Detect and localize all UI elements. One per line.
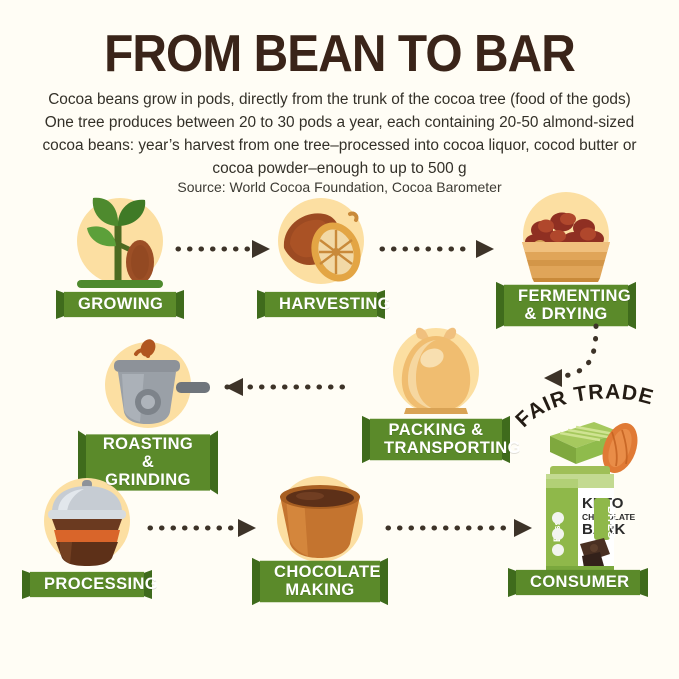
step-fermenting[interactable]: FERMENTING & DRYING [496, 186, 636, 331]
step-label: CONSUMER [508, 573, 648, 591]
step-label-line2: MAKING [252, 581, 388, 599]
connector-harvesting-to-fermenting [380, 239, 496, 259]
step-banner: CHOCOLATE MAKING [252, 556, 388, 607]
step-packing[interactable]: PACKING & TRANSPORTING [362, 322, 510, 465]
step-label-line1: ROASTING & [78, 435, 218, 471]
step-processing[interactable]: PROCESSING [22, 472, 152, 601]
step-label-line2: GRINDING [78, 471, 218, 489]
package-badges [552, 512, 564, 556]
product-package-icon: Bliss KETO CHOCOLATE BARK BITES [508, 462, 648, 574]
step-label-line1: CHOCOLATE [252, 563, 388, 581]
step-harvesting[interactable]: HARVESTING [257, 192, 385, 321]
connector-processing-to-chocolate [148, 518, 258, 538]
step-banner: PROCESSING [22, 568, 152, 601]
step-roasting[interactable]: ROASTING & GRINDING [78, 336, 218, 497]
page-title: FROM BEAN TO BAR [27, 28, 652, 80]
cocoa-plant-icon [61, 192, 179, 288]
step-banner: ROASTING & GRINDING [78, 428, 218, 497]
connector-packing-to-roasting [203, 377, 355, 397]
step-label-line2: & DRYING [496, 305, 636, 323]
step-banner: HARVESTING [257, 288, 385, 321]
subtitle-text: Cocoa beans grow in pods, directly from … [33, 88, 646, 180]
step-label: HARVESTING [257, 295, 385, 313]
step-label: PROCESSING [22, 575, 152, 593]
step-label-line1: FERMENTING [496, 287, 636, 305]
step-label-line1: PACKING & [362, 421, 510, 439]
package-side-text: BITES [605, 506, 617, 538]
step-label: GROWING [56, 295, 184, 313]
infographic-canvas: FROM BEAN TO BAR Cocoa beans grow in pod… [0, 0, 679, 679]
step-growing[interactable]: GROWING [56, 192, 184, 321]
sack-icon [362, 322, 510, 418]
cocoa-pod-icon [262, 192, 380, 288]
step-banner: GROWING [56, 288, 184, 321]
step-label-line2: TRANSPORTING [362, 439, 510, 457]
step-consumer[interactable]: Bliss KETO CHOCOLATE BARK BITES [508, 462, 648, 599]
chocolate-bowl-icon [252, 470, 388, 558]
grinder-icon [78, 336, 218, 432]
step-banner: CONSUMER [508, 566, 648, 599]
fair-trade-badge: FAIR TRADE [512, 384, 679, 474]
step-banner: PACKING & TRANSPORTING [362, 414, 510, 465]
basket-of-beans-icon [496, 186, 636, 282]
step-chocolate[interactable]: CHOCOLATE MAKING [252, 470, 388, 607]
